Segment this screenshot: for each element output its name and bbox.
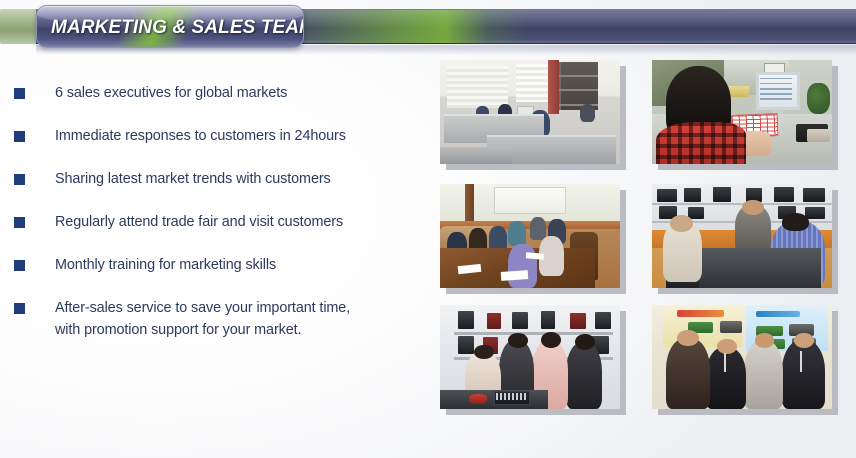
bullet-text-block: After-sales service to save your importa… bbox=[55, 297, 350, 341]
bullet-text: Sharing latest market trends with custom… bbox=[55, 168, 331, 190]
square-bullet-icon bbox=[14, 260, 25, 271]
booth-discussion-photo bbox=[652, 184, 832, 288]
photo-grid bbox=[440, 60, 836, 412]
list-item: Monthly training for marketing skills bbox=[0, 254, 428, 276]
slide-header: MARKETING & SALES TEAM MARKETING & SALES… bbox=[0, 0, 856, 68]
bullet-text-line2: with promotion support for your market. bbox=[55, 322, 301, 338]
expo-customers-photo bbox=[652, 305, 832, 409]
square-bullet-icon bbox=[14, 174, 25, 185]
square-bullet-icon bbox=[14, 88, 25, 99]
bullet-text: Monthly training for marketing skills bbox=[55, 254, 276, 276]
square-bullet-icon bbox=[14, 303, 25, 314]
sales-team-group-photo bbox=[440, 305, 620, 409]
square-bullet-icon bbox=[14, 131, 25, 142]
office-cubicles-photo bbox=[440, 60, 620, 164]
bullet-text-line1: After-sales service to save your importa… bbox=[55, 300, 350, 316]
list-item: Sharing latest market trends with custom… bbox=[0, 168, 428, 190]
list-item: Regularly attend trade fair and visit cu… bbox=[0, 211, 428, 233]
bullet-text: Regularly attend trade fair and visit cu… bbox=[55, 211, 343, 233]
square-bullet-icon bbox=[14, 217, 25, 228]
bullet-text: Immediate responses to customers in 24ho… bbox=[55, 125, 346, 147]
bullet-text: 6 sales executives for global markets bbox=[55, 82, 287, 104]
list-item: Immediate responses to customers in 24ho… bbox=[0, 125, 428, 147]
meeting-room-photo bbox=[440, 184, 620, 288]
list-item: 6 sales executives for global markets bbox=[0, 82, 428, 104]
sales-rep-at-computer-photo bbox=[652, 60, 832, 164]
page-title: MARKETING & SALES TEAM bbox=[51, 6, 293, 48]
title-pill: MARKETING & SALES TEAM bbox=[36, 5, 304, 48]
list-item: After-sales service to save your importa… bbox=[0, 297, 428, 341]
header-reflection-title: MARKETING & SALES TEAM bbox=[50, 45, 312, 65]
bullet-list: 6 sales executives for global markets Im… bbox=[0, 82, 428, 341]
